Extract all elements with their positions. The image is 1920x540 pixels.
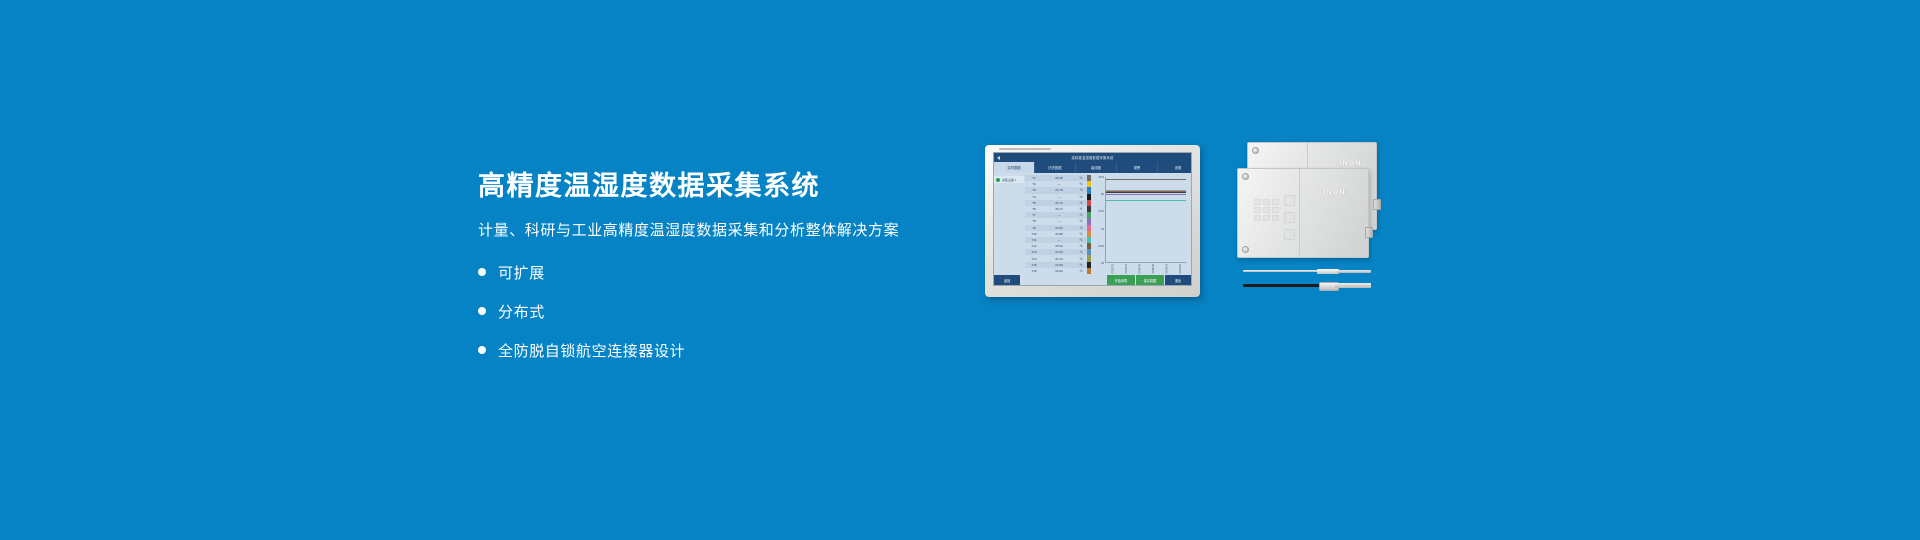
channel-unit: ℃ xyxy=(1075,232,1087,236)
back-chevron-icon[interactable] xyxy=(997,156,1000,160)
channel-unit: ℃ xyxy=(1075,269,1087,273)
channel-value: 24.72 xyxy=(1043,201,1075,205)
feature-label: 分布式 xyxy=(498,301,545,322)
product-banner: 高精度温湿度数据采集系统 计量、科研与工业高精度温湿度数据采集和分析整体解决方案… xyxy=(0,0,1920,540)
channel-label: T14 xyxy=(1025,257,1043,261)
channel-label: T15 xyxy=(1025,263,1043,267)
y-tick-label: 25.5 xyxy=(1099,175,1104,179)
terminal-screen: 高精度温湿度数据采集系统 实时数据 历史数据 曲线图 报警 设置 采集设备 1 xyxy=(993,152,1192,286)
y-tick-label: 23 xyxy=(1101,261,1104,265)
tab-realtime-data[interactable]: 实时数据 xyxy=(994,162,1035,173)
x-tick-label: 10:14:00 xyxy=(1124,264,1127,275)
start-acquisition-button[interactable]: 开始采集 xyxy=(1107,275,1136,285)
page-title: 高精度温湿度数据采集系统 xyxy=(478,172,898,202)
device-nav-panel: 采集设备 1 xyxy=(994,173,1025,275)
channel-label: T9 xyxy=(1025,226,1043,230)
y-tick-label: 24.5 xyxy=(1099,209,1104,213)
channel-unit: ℃ xyxy=(1075,182,1087,186)
chart-y-axis: 25.52524.52423.523 xyxy=(1093,175,1104,265)
channel-label: T5 xyxy=(1025,201,1043,205)
channel-unit: ℃ xyxy=(1075,226,1087,230)
channel-value: --- xyxy=(1043,195,1075,199)
temperature-probe xyxy=(1243,268,1371,274)
probe-cable xyxy=(1243,284,1323,287)
tab-history-data[interactable]: 历史数据 xyxy=(1035,162,1076,173)
x-tick-label: 10:16:00 xyxy=(1137,264,1140,275)
x-tick-label: 10:12:00 xyxy=(1110,264,1113,275)
module-port-slots xyxy=(1284,195,1295,240)
cable-probe-with-aviation-connector xyxy=(1243,282,1371,290)
probe-tail xyxy=(1337,270,1371,273)
module-seam xyxy=(1299,169,1300,257)
chart-plot-area xyxy=(1105,177,1186,263)
channel-unit: ℃ xyxy=(1075,195,1087,199)
channel-data-table: T125.35℃T2---℃T324.79℃T4---℃T524.72℃T625… xyxy=(1025,173,1091,275)
channel-value: 25.35 xyxy=(1043,176,1075,180)
marketing-copy: 高精度温湿度数据采集系统 计量、科研与工业高精度温湿度数据采集和分析整体解决方案… xyxy=(478,172,898,361)
channel-value: 25.17 xyxy=(1043,207,1075,211)
device-nav-item[interactable]: 采集设备 1 xyxy=(994,176,1024,183)
feature-label: 全防脱自锁航空连接器设计 xyxy=(498,340,685,361)
channel-unit: ℃ xyxy=(1075,188,1087,192)
channel-label: T4 xyxy=(1025,195,1043,199)
channel-unit: ℃ xyxy=(1075,213,1087,217)
module-connector-port xyxy=(1373,199,1381,210)
tab-settings[interactable]: 设置 xyxy=(1158,162,1192,173)
bullet-dot-icon xyxy=(478,307,486,315)
channel-label: T16 xyxy=(1025,269,1043,273)
probe-sleeve xyxy=(1317,269,1339,274)
channel-unit: ℃ xyxy=(1075,238,1087,242)
channel-unit: ℃ xyxy=(1075,244,1087,248)
feature-item-2: 全防脱自锁航空连接器设计 xyxy=(478,340,898,361)
channel-unit: ℃ xyxy=(1075,257,1087,261)
feature-item-0: 可扩展 xyxy=(478,262,898,283)
channel-value: 24.29 xyxy=(1043,250,1075,254)
channel-label: T6 xyxy=(1025,207,1043,211)
module-screw-icon xyxy=(1252,147,1259,154)
feature-item-1: 分布式 xyxy=(478,301,898,322)
module-connector-port xyxy=(1365,227,1373,238)
y-tick-label: 23.5 xyxy=(1099,244,1104,248)
chart-trace xyxy=(1106,200,1186,201)
module-brand-logo: INON xyxy=(1323,189,1346,196)
module-etch-pattern xyxy=(1254,199,1279,221)
channel-unit: ℃ xyxy=(1075,207,1087,211)
screen-body: 采集设备 1 T125.35℃T2---℃T324.79℃T4---℃T524.… xyxy=(994,173,1191,275)
screen-title: 高精度温湿度数据采集系统 xyxy=(1072,155,1114,160)
channel-unit: ℃ xyxy=(1075,219,1087,223)
channel-label: T2 xyxy=(1025,182,1043,186)
channel-label: T1 xyxy=(1025,176,1043,180)
channel-unit: ℃ xyxy=(1075,201,1087,205)
chart-x-axis: 10:12:0010:14:0010:16:0010:18:0010:20:00… xyxy=(1105,264,1186,275)
device-nav-label: 采集设备 1 xyxy=(1002,178,1017,182)
channel-label: T12 xyxy=(1025,244,1043,248)
channel-unit: ℃ xyxy=(1075,263,1087,267)
channel-label: T8 xyxy=(1025,219,1043,223)
channel-value: 25.90 xyxy=(1043,244,1075,248)
channel-unit: ℃ xyxy=(1075,176,1087,180)
channel-label: T3 xyxy=(1025,188,1043,192)
y-tick-label: 24 xyxy=(1101,227,1104,231)
footer-spacer xyxy=(1020,275,1107,285)
acquisition-module-front: INON xyxy=(1237,168,1369,258)
bullet-dot-icon xyxy=(478,346,486,354)
x-tick-label: 10:22:00 xyxy=(1178,264,1181,275)
channel-value: 24.90 xyxy=(1043,226,1075,230)
channel-value: 24.88 xyxy=(1043,232,1075,236)
save-data-button[interactable]: 保存数据 xyxy=(1136,275,1165,285)
channel-label: T7 xyxy=(1025,213,1043,217)
tab-curve-chart[interactable]: 曲线图 xyxy=(1076,162,1117,173)
terminal-vent xyxy=(999,148,1051,150)
screen-footer-bar: 返回 开始采集 保存数据 退出 xyxy=(994,275,1191,285)
channel-value: --- xyxy=(1043,213,1075,217)
panel-pc-terminal: 高精度温湿度数据采集系统 实时数据 历史数据 曲线图 报警 设置 采集设备 1 xyxy=(985,145,1200,297)
channel-value: --- xyxy=(1043,238,1075,242)
channel-value: 25.94 xyxy=(1043,269,1075,273)
channel-label: T13 xyxy=(1025,250,1043,254)
channel-value: 24.71 xyxy=(1043,257,1075,261)
channel-value: 24.90 xyxy=(1043,263,1075,267)
y-tick-label: 25 xyxy=(1101,192,1104,196)
screen-tab-bar: 实时数据 历史数据 曲线图 报警 设置 xyxy=(994,162,1191,173)
channel-color-swatch xyxy=(1087,268,1091,274)
probe-rod xyxy=(1243,270,1321,272)
module-screw-icon xyxy=(1242,246,1249,253)
feature-list: 可扩展 分布式 全防脱自锁航空连接器设计 xyxy=(478,262,898,361)
channel-value: --- xyxy=(1043,219,1075,223)
channel-label: T11 xyxy=(1025,238,1043,242)
bullet-dot-icon xyxy=(478,268,486,276)
screen-titlebar: 高精度温湿度数据采集系统 xyxy=(994,153,1191,162)
chart-trace xyxy=(1106,194,1186,195)
feature-label: 可扩展 xyxy=(498,262,545,283)
status-dot-icon xyxy=(996,178,1000,182)
x-tick-label: 10:18:00 xyxy=(1151,264,1154,275)
chart-trace xyxy=(1106,179,1186,180)
module-screw-icon xyxy=(1242,173,1249,180)
x-tick-label: 10:20:00 xyxy=(1164,264,1167,275)
channel-label: T10 xyxy=(1025,232,1043,236)
channel-unit: ℃ xyxy=(1075,250,1087,254)
trend-chart: 25.52524.52423.523 10:12:0010:14:0010:16… xyxy=(1093,175,1188,275)
channel-value: --- xyxy=(1043,182,1075,186)
module-brand-logo: INON xyxy=(1339,160,1362,167)
page-subtitle: 计量、科研与工业高精度温湿度数据采集和分析整体解决方案 xyxy=(478,222,898,240)
table-row[interactable]: T1625.94℃ xyxy=(1025,268,1091,274)
probe-connector-body xyxy=(1335,283,1371,288)
tab-alarm[interactable]: 报警 xyxy=(1117,162,1158,173)
exit-button[interactable]: 退出 xyxy=(1165,275,1191,285)
back-button[interactable]: 返回 xyxy=(994,275,1020,285)
product-photo-group: 高精度温湿度数据采集系统 实时数据 历史数据 曲线图 报警 设置 采集设备 1 xyxy=(985,140,1625,320)
channel-value: 24.79 xyxy=(1043,188,1075,192)
